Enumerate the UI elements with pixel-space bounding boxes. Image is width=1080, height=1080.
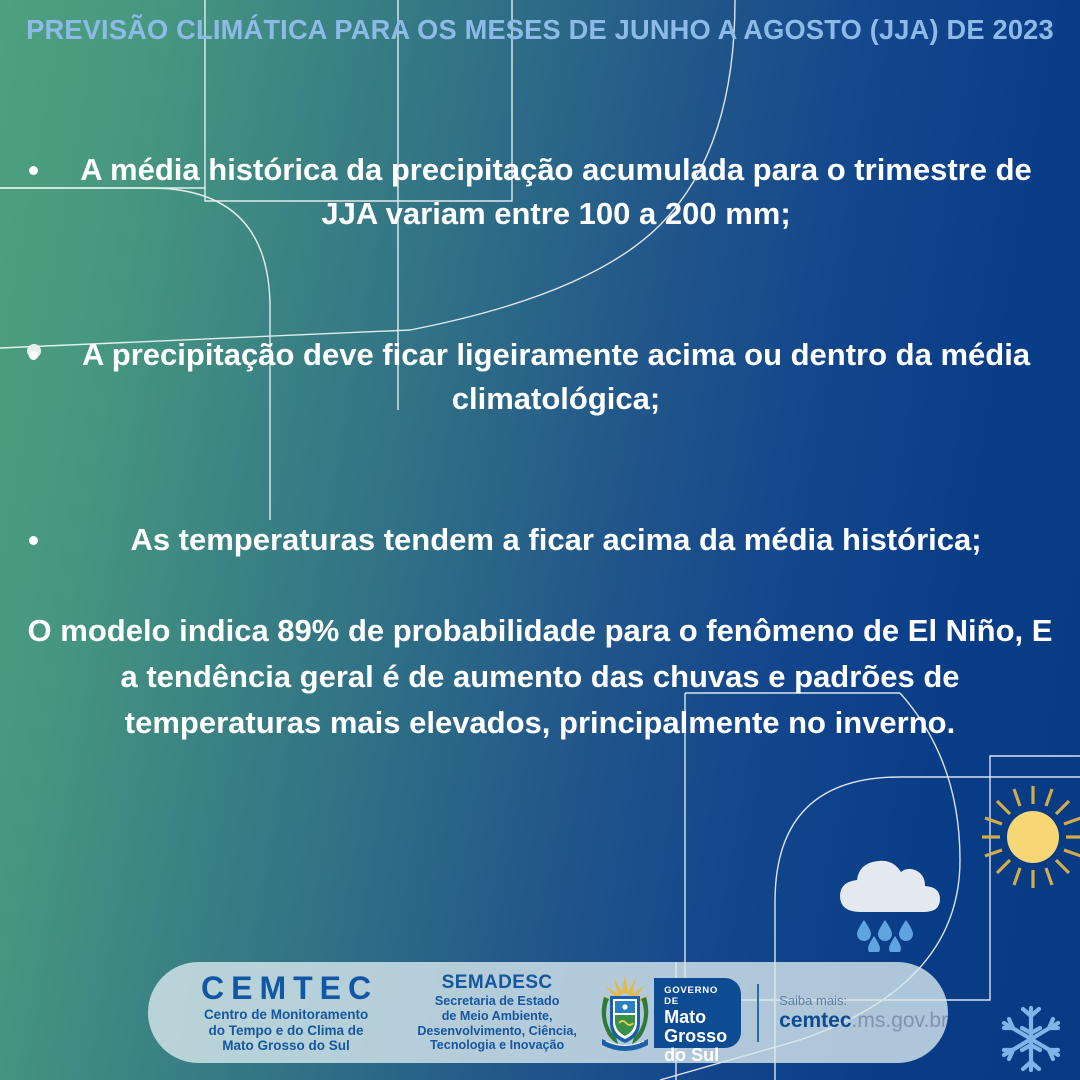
website-label: Saiba mais: [779, 993, 948, 1009]
snowflake-icon [995, 1003, 1067, 1075]
bullet-marker-icon [29, 166, 38, 175]
semadesc-name: SEMADESC [406, 972, 588, 993]
bullet-text-2: A precipitação deve ficar ligeiramente a… [60, 333, 1080, 421]
footer-bar: CEMTEC Centro de Monitoramento do Tempo … [148, 962, 948, 1063]
government-prefix: GOVERNO DE [664, 985, 727, 1007]
website-url-bold: cemtec [779, 1009, 851, 1032]
cemtec-subtitle: Centro de Monitoramento do Tempo e do Cl… [170, 1007, 402, 1054]
page-title: PREVISÃO CLIMÁTICA PARA OS MESES DE JUNH… [5, 14, 1074, 46]
cemtec-subtitle-line-1: Centro de Monitoramento [170, 1007, 402, 1023]
cemtec-subtitle-line-2: do Tempo e do Clima de [170, 1023, 402, 1039]
rain-cloud-icon [828, 846, 950, 952]
cemtec-name: CEMTEC [170, 971, 402, 1005]
semadesc-subtitle-line-1: Secretaria de Estado [406, 994, 588, 1009]
poster-canvas: PREVISÃO CLIMÁTICA PARA OS MESES DE JUNH… [0, 0, 1080, 1080]
website-url-rest: .ms.gov.br [852, 1009, 948, 1032]
bullet-marker-icon [29, 536, 38, 545]
bullet-item-3: As temperaturas tendem a ficar acima da … [0, 518, 1080, 562]
semadesc-subtitle-line-2: de Meio Ambiente, [406, 1009, 588, 1024]
website-block[interactable]: Saiba mais: cemtec.ms.gov.br [779, 993, 948, 1033]
website-url[interactable]: cemtec.ms.gov.br [779, 1009, 948, 1033]
bullet-text-3: As temperaturas tendem a ficar acima da … [60, 518, 1080, 562]
sun-icon [978, 782, 1080, 892]
government-name-line-1: Mato [664, 1008, 727, 1026]
bullet-text-1: A média histórica da precipitação acumul… [60, 148, 1080, 236]
summary-paragraph: O modelo indica 89% de probabilidade par… [0, 608, 1080, 746]
bullet-item-2: A precipitação deve ficar ligeiramente a… [0, 333, 1080, 421]
semadesc-subtitle-line-3: Desenvolvimento, Ciência, [406, 1024, 588, 1039]
government-logo: GOVERNO DE Mato Grosso do Sul [594, 971, 741, 1055]
cemtec-subtitle-line-3: Mato Grosso do Sul [170, 1038, 402, 1054]
footer-divider [757, 984, 759, 1042]
coat-of-arms-icon [594, 971, 656, 1055]
semadesc-subtitle: Secretaria de Estado de Meio Ambiente, D… [406, 994, 588, 1052]
government-name-badge: GOVERNO DE Mato Grosso do Sul [654, 978, 741, 1048]
semadesc-logo: SEMADESC Secretaria de Estado de Meio Am… [406, 972, 588, 1052]
semadesc-subtitle-line-4: Tecnologia e Inovação [406, 1038, 588, 1053]
government-name-line-2: Grosso [664, 1027, 727, 1045]
government-name-line-3: do Sul [664, 1046, 727, 1064]
cemtec-logo: CEMTEC Centro de Monitoramento do Tempo … [170, 971, 402, 1054]
bullet-marker-icon [29, 351, 38, 360]
bullet-item-1: A média histórica da precipitação acumul… [0, 148, 1080, 236]
